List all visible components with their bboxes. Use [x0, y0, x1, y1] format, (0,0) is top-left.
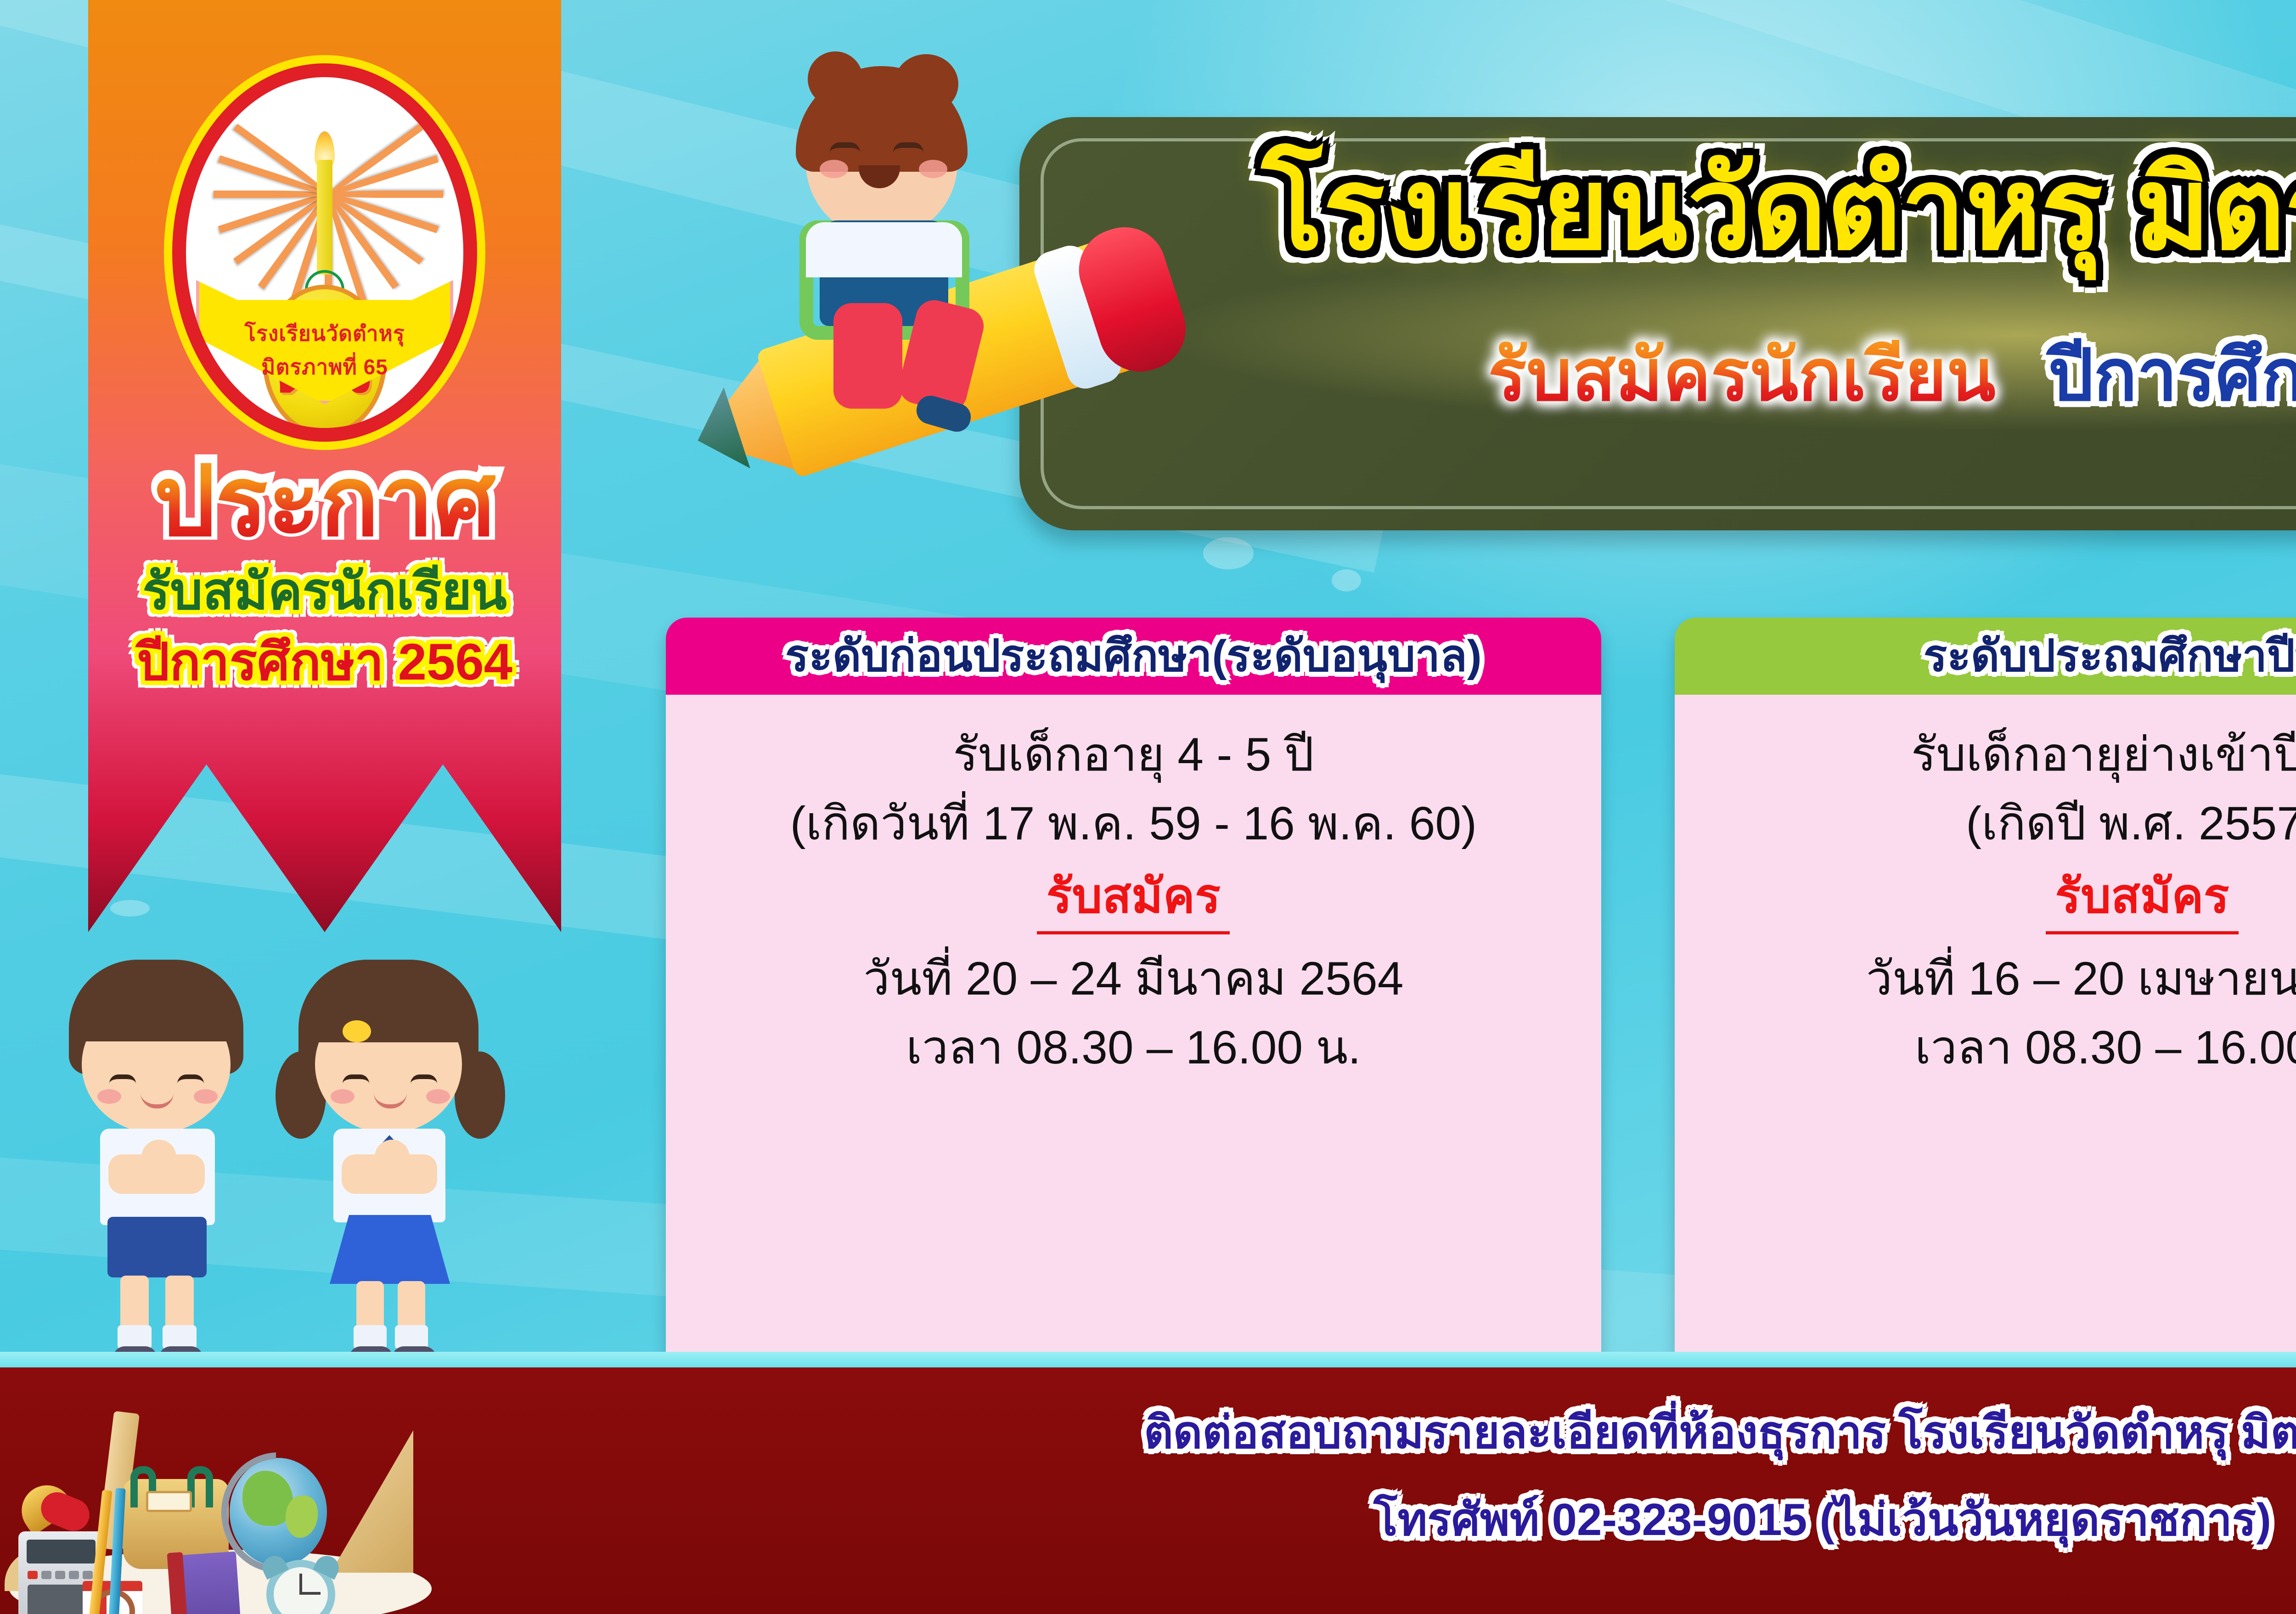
triangle-ruler-icon [331, 1430, 413, 1573]
footer-accent-band [0, 1352, 2296, 1367]
ribbon-headline: ประกาศ [154, 453, 495, 550]
card-body: รับเด็กอายุย่างเข้าปีที่ 7 (เกิดปี พ.ศ. … [1675, 695, 2296, 1352]
card-criteria-line2: (เกิดวันที่ 17 พ.ค. 59 - 16 พ.ค. 60) [790, 795, 1477, 852]
student-boy [51, 960, 262, 1373]
hair-clip-icon [343, 1020, 371, 1042]
school-supplies-pile-illustration [14, 1398, 427, 1614]
subtitle-academic-year: ปีการศึกษา 2564 [2048, 340, 2296, 411]
student-girl [280, 960, 496, 1373]
card-header: ระดับก่อนประถมศึกษา(ระดับอนุบาล) [666, 618, 1601, 695]
announcement-ribbon: ตร โรงเรียนวัดตำหรุ มิตรภาพที่ 65 ประกาศ… [88, 0, 561, 932]
logo-scroll-text: โรงเรียนวัดตำหรุ มิตรภาพที่ 65 [205, 317, 444, 384]
card-header-label: ระดับประถมศึกษาปีที่ 1 [1924, 634, 2296, 678]
apply-label: รับสมัคร [2055, 872, 2229, 920]
boy-riding-pencil-illustration [668, 28, 1137, 496]
apply-label: รับสมัคร [1047, 872, 1221, 920]
card-header: ระดับประถมศึกษาปีที่ 1 [1675, 618, 2296, 695]
card-apply-time: เวลา 08.30 – 16.00 น. [1915, 1019, 2296, 1076]
ribbon-headline-wrap: ประกาศ ประกาศ [154, 450, 495, 550]
card-kindergarten[interactable]: ระดับก่อนประถมศึกษา(ระดับอนุบาล) รับเด็ก… [666, 618, 1601, 1352]
title-subtitle-row: รับสมัครนักเรียน ปีการศึกษา 2564 [1111, 340, 2296, 411]
card-criteria-line1: รับเด็กอายุ 4 - 5 ปี [953, 726, 1314, 783]
boy-hair [796, 66, 968, 172]
card-apply-date: วันที่ 16 – 20 เมษายน 2564 [1866, 950, 2296, 1007]
candle-icon [317, 160, 332, 275]
apply-underline [1037, 931, 1230, 934]
card-primary-1[interactable]: ระดับประถมศึกษาปีที่ 1 รับเด็กอายุย่างเข… [1675, 618, 2296, 1352]
school-name-title: โรงเรียนวัดตำหรุ มิตรภาพที่ 65 [1111, 152, 2296, 266]
card-criteria-line1: รับเด็กอายุย่างเข้าปีที่ 7 [1911, 726, 2296, 783]
apply-underline [2046, 931, 2239, 934]
banner-canvas: โรงเรียนวัดตำหรุ มิตรภาพที่ 65 รับสมัครน… [0, 0, 2296, 1614]
card-criteria-line2: (เกิดปี พ.ศ. 2557) [1966, 795, 2296, 852]
card-apply-time: เวลา 08.30 – 16.00 น. [906, 1019, 1361, 1076]
admission-cards: ระดับก่อนประถมศึกษา(ระดับอนุบาล) รับเด็ก… [666, 618, 2296, 1352]
ribbon-subline-year: ปีการศึกษา 2564 [137, 636, 512, 688]
card-header-label: ระดับก่อนประถมศึกษา(ระดับอนุบาล) [785, 634, 1482, 678]
subtitle-admission: รับสมัครนักเรียน [1488, 340, 1996, 411]
school-logo: ตร โรงเรียนวัดตำหรุ มิตรภาพที่ 65 [164, 55, 485, 450]
ribbon-subline-admission: รับสมัครนักเรียน [142, 566, 507, 617]
card-apply-date: วันที่ 20 – 24 มีนาคม 2564 [863, 950, 1403, 1007]
card-body: รับเด็กอายุ 4 - 5 ปี (เกิดวันที่ 17 พ.ค.… [666, 695, 1601, 1352]
